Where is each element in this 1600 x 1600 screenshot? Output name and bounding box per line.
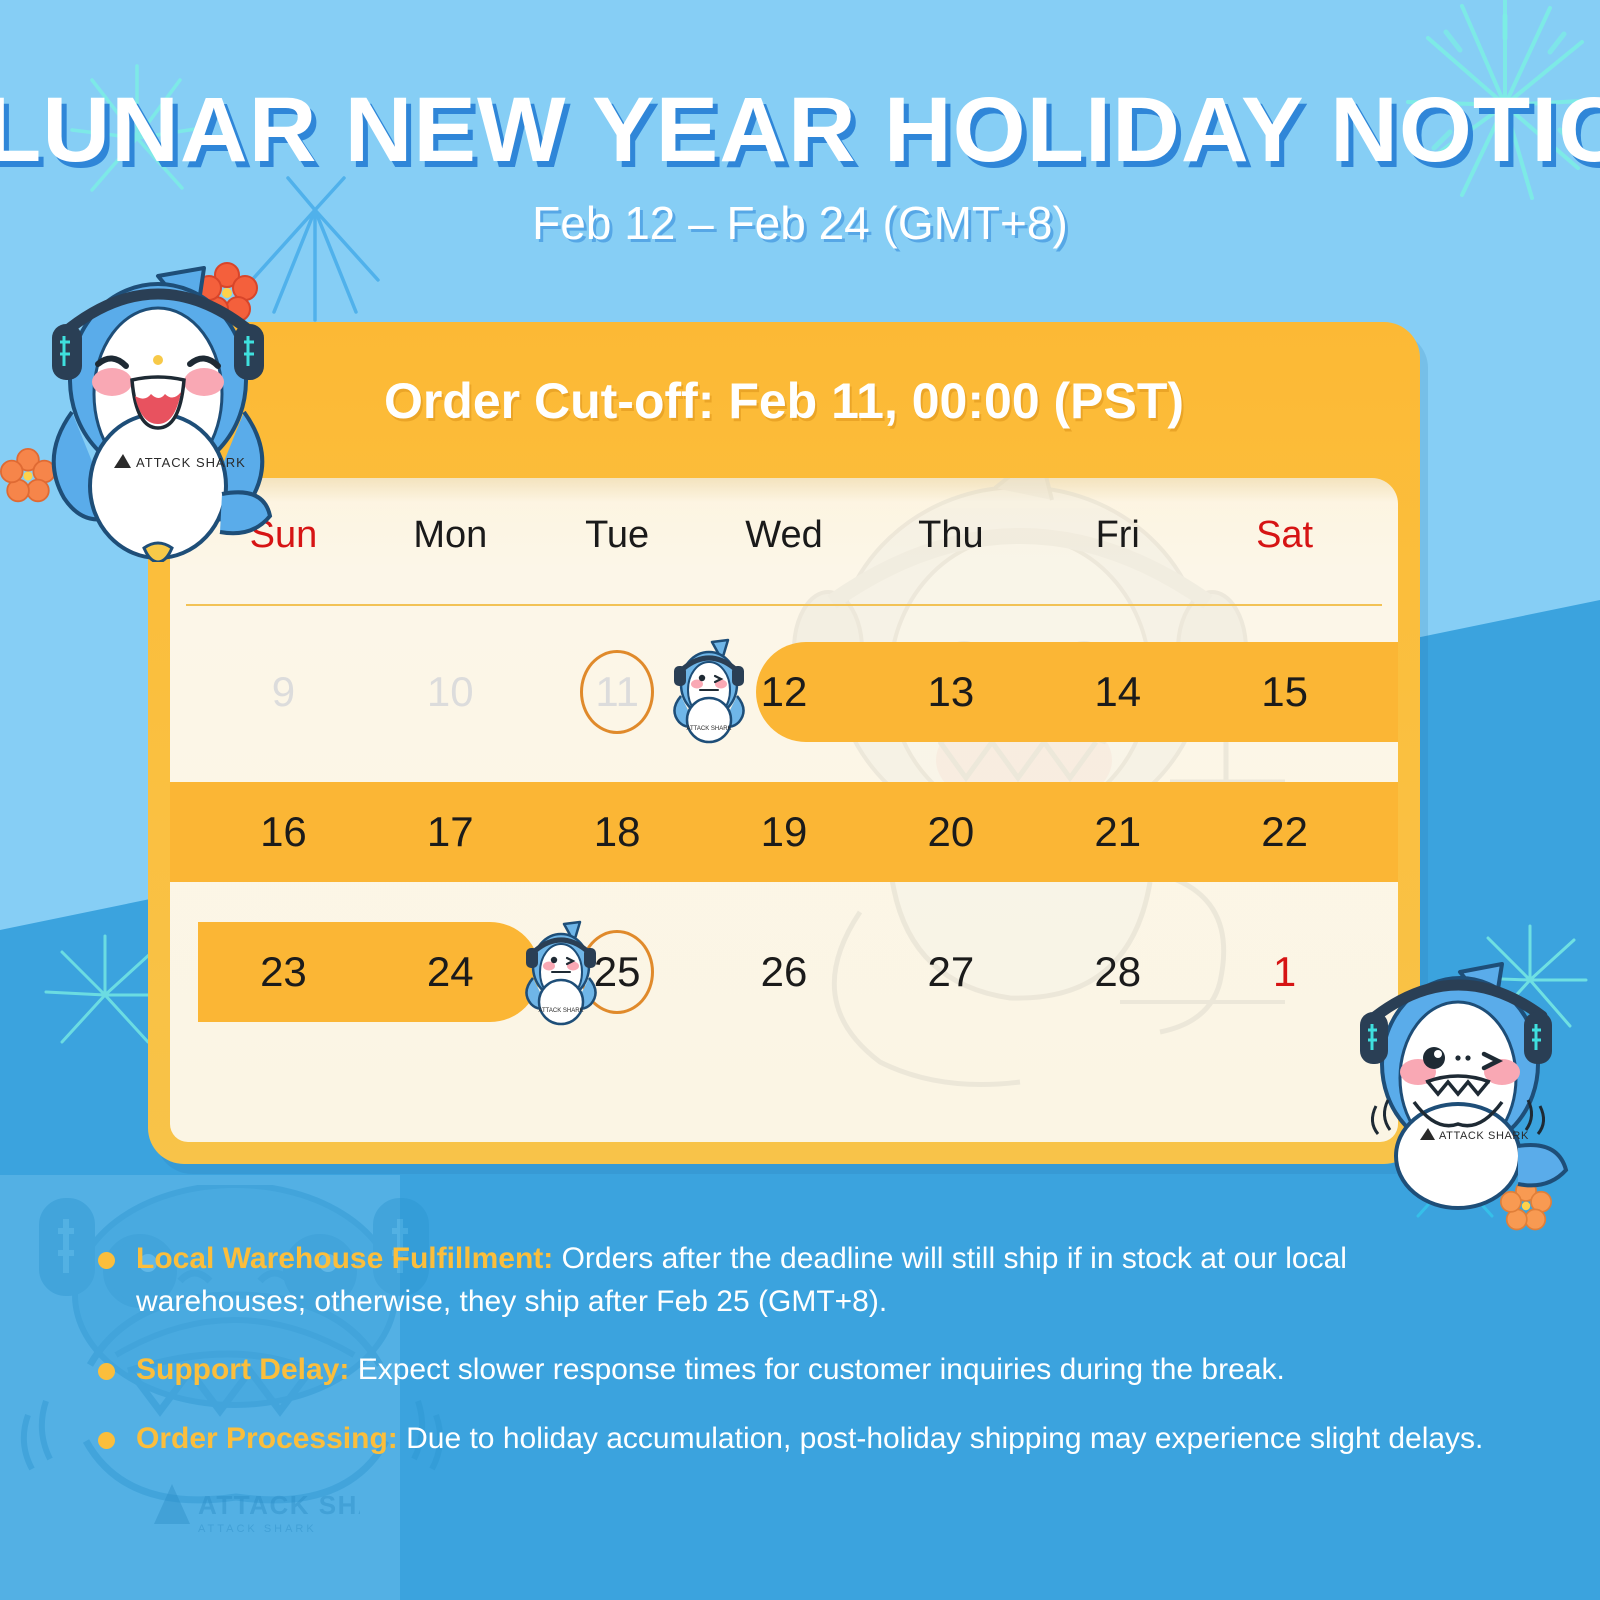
note-label: Local Warehouse Fulfillment: [136,1242,553,1275]
bullet-icon [98,1432,115,1449]
note-label: Support Delay: [136,1353,349,1386]
day-cell[interactable]: 19 [701,766,868,898]
day-cell[interactable]: 27 [867,906,1034,1038]
bullet-icon [98,1252,115,1269]
shark-mascot-icon: ATTACK SHARK [36,262,296,562]
note-body: Expect slower response times for custome… [349,1353,1284,1386]
weekday-wed: Wed [701,514,868,592]
day-cell[interactable]: 15 [1201,626,1368,758]
day-cell[interactable]: 22 [1201,766,1368,898]
notes-list: Local Warehouse Fulfillment: Orders afte… [96,1238,1496,1486]
day-cell[interactable]: 18 [534,766,701,898]
day-cell[interactable]: 16 [200,766,367,898]
bullet-icon [98,1363,115,1380]
day-cell[interactable]: 24 [367,906,534,1038]
order-cutoff-text: Order Cut-off: Feb 11, 00:00 (PST) [384,372,1184,430]
day-cell[interactable]: 1 [1201,906,1368,1038]
order-cutoff-banner: Order Cut-off: Feb 11, 00:00 (PST) [148,322,1420,480]
svg-text:ATTACK SHARK: ATTACK SHARK [1439,1130,1529,1142]
panel-inner-shadow [170,478,1398,502]
calendar-week-row: 9 10 11 12 13 14 15 [170,626,1398,758]
cutoff-circle-marker [580,650,654,734]
weekday-fri: Fri [1034,514,1201,592]
day-cell[interactable]: 13 [867,626,1034,758]
calendar-week-row: 16 17 18 19 20 21 22 [170,766,1398,898]
day-cell-resume[interactable]: 25 [534,906,701,1038]
weekday-tue: Tue [534,514,701,592]
note-item: Support Delay: Expect slower response ti… [96,1349,1496,1392]
day-cell[interactable]: 23 [200,906,367,1038]
day-cell[interactable]: 26 [701,906,868,1038]
note-item: Local Warehouse Fulfillment: Orders afte… [96,1238,1496,1323]
day-cell[interactable]: 28 [1034,906,1201,1038]
calendar-panel: Sun Mon Tue Wed Thu Fri Sat 9 10 11 12 1… [170,478,1398,1142]
note-label: Order Processing: [136,1422,398,1455]
day-cell[interactable]: 21 [1034,766,1201,898]
weekday-header-row: Sun Mon Tue Wed Thu Fri Sat [200,514,1368,592]
day-cell[interactable]: 14 [1034,626,1201,758]
calendar-week-row: 23 24 25 26 27 28 1 [170,906,1398,1038]
day-cell[interactable]: 9 [200,626,367,758]
weekday-thu: Thu [867,514,1034,592]
weekday-mon: Mon [367,514,534,592]
page-title: LUNAR NEW YEAR HOLIDAY NOTICE [0,82,1600,179]
shark-mascot-winking-icon: ATTACK SHARK [1352,960,1582,1210]
calendar-card: Order Cut-off: Feb 11, 00:00 (PST) [148,322,1420,1164]
day-cell[interactable]: 12 [701,626,868,758]
day-cell[interactable]: 20 [867,766,1034,898]
page-subtitle: Feb 12 – Feb 24 (GMT+8) [0,196,1600,250]
svg-text:ATTACK SHARK: ATTACK SHARK [136,455,246,470]
day-cell[interactable]: 10 [367,626,534,758]
resume-circle-marker [580,930,654,1014]
note-body: Due to holiday accumulation, post-holida… [398,1422,1484,1455]
day-cell-cutoff[interactable]: 11 [534,626,701,758]
note-item: Order Processing: Due to holiday accumul… [96,1418,1496,1461]
weekday-sat: Sat [1201,514,1368,592]
day-cell[interactable]: 17 [367,766,534,898]
weekday-divider [186,604,1382,606]
